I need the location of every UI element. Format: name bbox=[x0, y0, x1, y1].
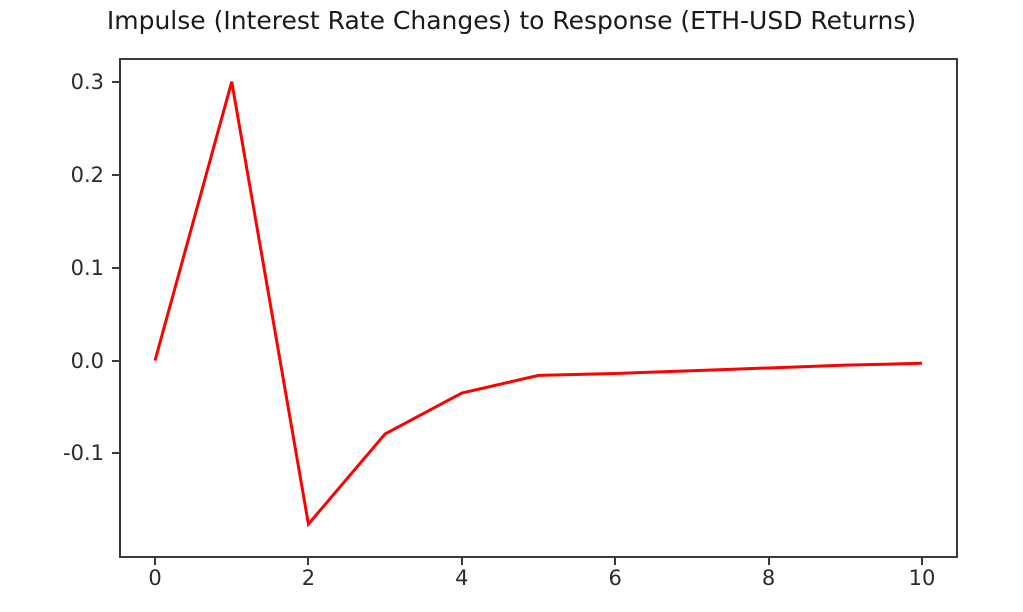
x-axis-tick-mark bbox=[768, 558, 770, 565]
x-axis-tick-mark bbox=[461, 558, 463, 565]
y-axis-tick-mark bbox=[112, 360, 119, 362]
chart-figure: Impulse (Interest Rate Changes) to Respo… bbox=[0, 0, 1023, 612]
y-axis-tick-mark bbox=[112, 452, 119, 454]
x-axis-tick-label: 0 bbox=[148, 566, 161, 590]
y-axis-tick-mark bbox=[112, 267, 119, 269]
y-axis-tick-label: 0.0 bbox=[71, 349, 104, 373]
chart-title: Impulse (Interest Rate Changes) to Respo… bbox=[0, 6, 1023, 35]
x-axis-tick-mark bbox=[614, 558, 616, 565]
y-axis-tick-mark bbox=[112, 81, 119, 83]
x-axis-tick-label: 6 bbox=[609, 566, 622, 590]
y-axis-tick-label: -0.1 bbox=[63, 441, 104, 465]
y-axis-tick-mark bbox=[112, 174, 119, 176]
x-axis-tick-mark bbox=[307, 558, 309, 565]
x-axis-tick-label: 4 bbox=[455, 566, 468, 590]
y-axis-tick-label: 0.3 bbox=[71, 70, 104, 94]
y-axis-tick-label: 0.2 bbox=[71, 163, 104, 187]
x-axis-tick-mark bbox=[921, 558, 923, 565]
plot-area-frame bbox=[119, 58, 958, 558]
x-axis-tick-label: 2 bbox=[302, 566, 315, 590]
y-axis-tick-label: 0.1 bbox=[71, 256, 104, 280]
x-axis-tick-mark bbox=[154, 558, 156, 565]
x-axis-tick-label: 10 bbox=[909, 566, 936, 590]
x-axis-tick-label: 8 bbox=[762, 566, 775, 590]
